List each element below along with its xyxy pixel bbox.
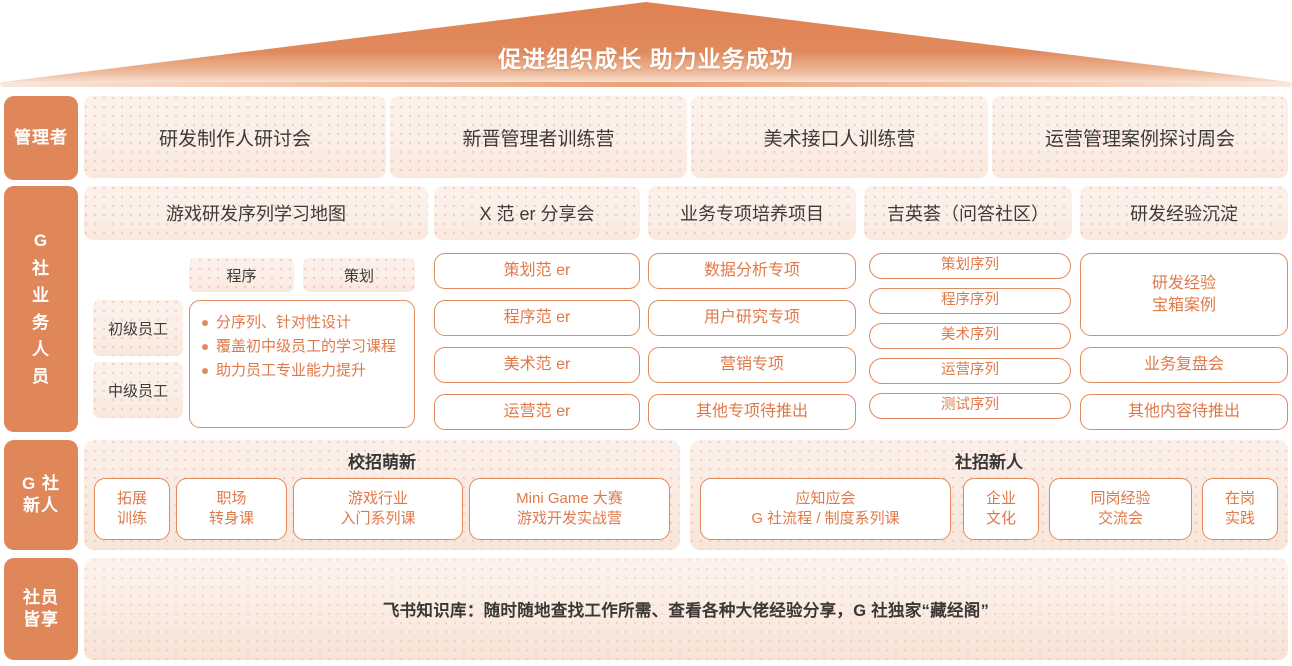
- pill-item-label: 用户研究专项: [704, 307, 800, 329]
- pill-item[interactable]: 游戏行业 入门系列课: [293, 478, 463, 540]
- column-header-label: 研发经验沉淀: [1130, 200, 1238, 226]
- pill-item-label: 美术范 er: [504, 354, 571, 376]
- caption-tile-label: 程序: [226, 265, 256, 286]
- pill-item-label: 研发经验 宝箱案例: [1152, 273, 1216, 316]
- pill-item[interactable]: 运营范 er: [434, 394, 640, 430]
- pill-item-label: 策划范 er: [504, 260, 571, 282]
- pill-item[interactable]: 营销专项: [648, 347, 856, 383]
- pill-item-label: 游戏行业 入门系列课: [340, 489, 415, 530]
- pill-item-label: 其他内容待推出: [1128, 401, 1240, 423]
- pill-item-label: 职场 转身课: [209, 489, 254, 530]
- column-header-x-fan-er[interactable]: X 范 er 分享会: [434, 186, 640, 240]
- roof-banner: 促进组织成长 助力业务成功: [0, 0, 1292, 92]
- column-header-label: 吉英荟（问答社区）: [887, 200, 1049, 226]
- group-title: 社招新人: [690, 448, 1288, 473]
- pill-item-label: 数据分析专项: [704, 260, 800, 282]
- caption-tile-program[interactable]: 程序: [189, 258, 294, 292]
- list-item: 分序列、针对性设计: [200, 311, 402, 335]
- pill-item[interactable]: 拓展 训练: [94, 478, 170, 540]
- pill-item-label: 运营序列: [941, 361, 999, 381]
- manager-card[interactable]: 新晋管理者训练营: [390, 96, 687, 178]
- pill-item-label: 应知应会 G 社流程 / 制度系列课: [751, 489, 899, 530]
- pill-item[interactable]: 用户研究专项: [648, 300, 856, 336]
- pill-item[interactable]: 同岗经验 交流会: [1049, 478, 1192, 540]
- column-header-label: 游戏研发序列学习地图: [166, 200, 346, 226]
- learning-map-bullets-card: 分序列、针对性设计 覆盖初中级员工的学习课程 助力员工专业能力提升: [189, 300, 415, 428]
- manager-card-label: 美术接口人训练营: [763, 124, 915, 151]
- manager-card-label: 新晋管理者训练营: [462, 124, 614, 151]
- list-item: 助力员工专业能力提升: [200, 359, 402, 383]
- level-tile-intermediate[interactable]: 中级员工: [93, 362, 183, 418]
- pill-item[interactable]: 数据分析专项: [648, 253, 856, 289]
- pill-item-label: 企业 文化: [986, 489, 1016, 530]
- pill-item[interactable]: 运营序列: [869, 358, 1071, 384]
- sidebar-item-business-staff[interactable]: G社业务人员: [4, 186, 78, 432]
- sidebar-item-label: 社员 皆享: [23, 587, 59, 631]
- list-item: 覆盖初中级员工的学习课程: [200, 335, 402, 359]
- pill-item-label: 程序范 er: [504, 307, 571, 329]
- manager-card[interactable]: 美术接口人训练营: [691, 96, 988, 178]
- sidebar-item-label: G社业务人员: [32, 227, 50, 390]
- caption-tile-label: 策划: [344, 265, 374, 286]
- infographic-root: 促进组织成长 助力业务成功 管理者 G社业务人员 G 社 新人 社员 皆享 研发…: [0, 0, 1292, 666]
- pill-item-label: 同岗经验 交流会: [1090, 489, 1150, 530]
- pill-item[interactable]: 策划序列: [869, 253, 1071, 279]
- pill-item-label: Mini Game 大赛 游戏开发实战营: [516, 489, 623, 530]
- column-header-business-special[interactable]: 业务专项培养项目: [648, 186, 856, 240]
- column-header-learning-map[interactable]: 游戏研发序列学习地图: [84, 186, 428, 240]
- sidebar-item-new-hire[interactable]: G 社 新人: [4, 440, 78, 550]
- pill-item-label: 程序序列: [941, 291, 999, 311]
- pill-item[interactable]: 应知应会 G 社流程 / 制度系列课: [700, 478, 951, 540]
- pill-item-label: 其他专项待推出: [696, 401, 808, 423]
- pill-item[interactable]: 在岗 实践: [1202, 478, 1278, 540]
- sidebar-item-label: 管理者: [14, 127, 68, 149]
- pill-item[interactable]: 测试序列: [869, 393, 1071, 419]
- group-title: 校招萌新: [84, 448, 680, 473]
- pill-item-label: 拓展 训练: [117, 489, 147, 530]
- sidebar-item-all-members[interactable]: 社员 皆享: [4, 558, 78, 660]
- pill-item[interactable]: 程序序列: [869, 288, 1071, 314]
- pill-item[interactable]: 美术序列: [869, 323, 1071, 349]
- column-header-rnd-experience[interactable]: 研发经验沉淀: [1080, 186, 1288, 240]
- knowledge-base-text: 飞书知识库：随时随地查找工作所需、查看各种大佬经验分享，G 社独家“藏经阁”: [383, 597, 989, 621]
- pill-item[interactable]: 美术范 er: [434, 347, 640, 383]
- column-header-label: X 范 er 分享会: [479, 200, 594, 226]
- pill-item-label: 美术序列: [941, 326, 999, 346]
- manager-card-label: 研发制作人研讨会: [159, 124, 311, 151]
- pill-item-label: 运营范 er: [504, 401, 571, 423]
- bullet-list: 分序列、针对性设计 覆盖初中级员工的学习课程 助力员工专业能力提升: [200, 311, 402, 383]
- level-tile-label: 中级员工: [108, 380, 168, 401]
- pill-item[interactable]: 研发经验 宝箱案例: [1080, 253, 1288, 336]
- pill-item-label: 测试序列: [941, 396, 999, 416]
- pill-item-label: 业务复盘会: [1144, 354, 1224, 376]
- pill-item[interactable]: 其他专项待推出: [648, 394, 856, 430]
- manager-card[interactable]: 运营管理案例探讨周会: [992, 96, 1288, 178]
- pill-item-label: 在岗 实践: [1225, 489, 1255, 530]
- roof-title: 促进组织成长 助力业务成功: [0, 40, 1292, 74]
- level-tile-label: 初级员工: [108, 318, 168, 339]
- pill-item[interactable]: 业务复盘会: [1080, 347, 1288, 383]
- pill-item-label: 策划序列: [941, 256, 999, 276]
- pill-item[interactable]: 职场 转身课: [176, 478, 287, 540]
- manager-card-label: 运营管理案例探讨周会: [1045, 124, 1235, 151]
- knowledge-base-banner[interactable]: 飞书知识库：随时随地查找工作所需、查看各种大佬经验分享，G 社独家“藏经阁”: [84, 558, 1288, 660]
- sidebar-item-manager[interactable]: 管理者: [4, 96, 78, 180]
- column-header-label: 业务专项培养项目: [680, 200, 824, 226]
- caption-tile-planning[interactable]: 策划: [303, 258, 415, 292]
- pill-item[interactable]: 策划范 er: [434, 253, 640, 289]
- pill-item[interactable]: Mini Game 大赛 游戏开发实战营: [469, 478, 670, 540]
- pill-item[interactable]: 企业 文化: [963, 478, 1039, 540]
- column-header-qa-community[interactable]: 吉英荟（问答社区）: [864, 186, 1072, 240]
- level-tile-junior[interactable]: 初级员工: [93, 300, 183, 356]
- pill-item[interactable]: 其他内容待推出: [1080, 394, 1288, 430]
- pill-item-label: 营销专项: [720, 354, 784, 376]
- manager-card[interactable]: 研发制作人研讨会: [84, 96, 386, 178]
- sidebar-item-label: G 社 新人: [22, 473, 60, 517]
- pill-item[interactable]: 程序范 er: [434, 300, 640, 336]
